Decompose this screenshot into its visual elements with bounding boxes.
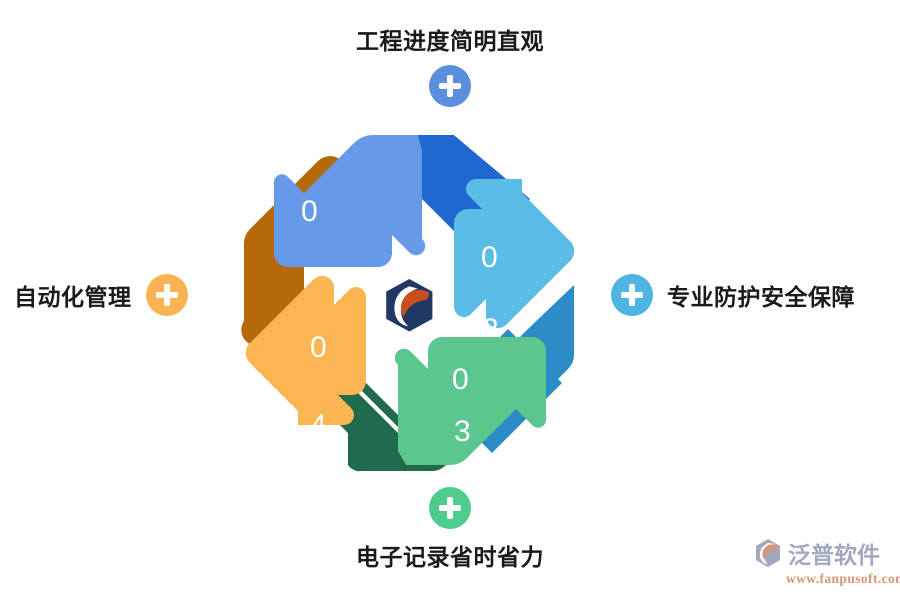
feature-top-label: 工程进度简明直观 [356, 22, 544, 56]
plus-circle-icon-right[interactable] [611, 274, 653, 316]
watermark-url: www.fanpusoft.com [786, 571, 900, 587]
feature-right[interactable]: 专业防护安全保障 [611, 274, 855, 316]
feature-top[interactable]: 工程进度简明直观 [0, 22, 900, 107]
feature-left-label: 自动化管理 [14, 278, 132, 312]
cycle-arrow-04-digit-bottom: 4 [310, 409, 327, 442]
plus-circle-icon-bottom[interactable] [429, 487, 471, 529]
feature-left[interactable]: 自动化管理 [14, 274, 188, 316]
plus-circle-icon-left[interactable] [146, 274, 188, 316]
cycle-arrow-03-digit-top: 0 [452, 363, 469, 396]
plus-circle-icon-top[interactable] [429, 65, 471, 107]
cycle-diagram-svg: 0 1 0 2 0 3 0 4 [230, 135, 590, 475]
cycle-arrow-03-digit-bottom: 3 [454, 415, 471, 448]
watermark-brand-row: 泛普软件 [753, 536, 880, 570]
cycle-diagram: 0 1 0 2 0 3 0 4 [230, 135, 590, 475]
feature-bottom-label: 电子记录省时省力 [356, 538, 544, 572]
cycle-arrow-04-digit-top: 0 [310, 331, 327, 364]
cycle-arrow-01-digit-top: 0 [301, 195, 318, 228]
cycle-arrow-02-digit-top: 0 [481, 241, 498, 274]
watermark: 泛普软件 www.fanpusoft.com [753, 536, 900, 587]
fanpu-logo-icon [753, 538, 783, 568]
watermark-brand: 泛普软件 [788, 536, 880, 570]
diagram-canvas: 0 1 0 2 0 3 0 4 [0, 0, 900, 600]
feature-right-label: 专业防护安全保障 [667, 278, 855, 312]
